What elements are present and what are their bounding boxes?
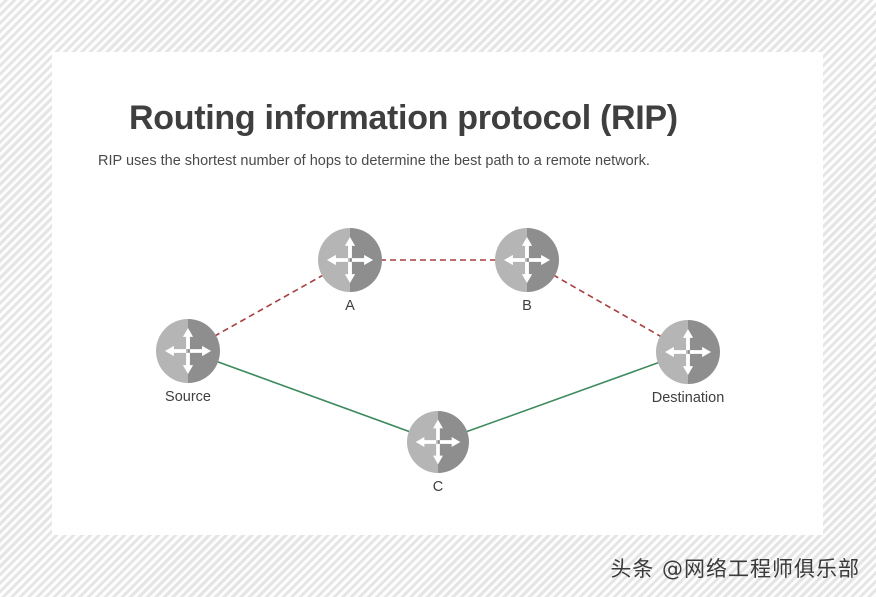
- page-title: Routing information protocol (RIP): [129, 100, 829, 137]
- edge-source-to-c: [216, 361, 411, 432]
- router-node-a[interactable]: A: [318, 228, 382, 292]
- edge-group-dashed-path: [214, 260, 662, 337]
- router-icon: [156, 319, 220, 383]
- router-label-c: C: [433, 479, 443, 495]
- page-subtitle: RIP uses the shortest number of hops to …: [98, 152, 818, 171]
- router-node-source[interactable]: Source: [156, 319, 220, 383]
- edge-c-to-destination: [465, 362, 659, 432]
- router-label-b: B: [522, 298, 532, 314]
- router-node-c[interactable]: C: [407, 411, 469, 473]
- router-icon: [656, 320, 720, 384]
- edge-b-to-destination: [553, 275, 662, 337]
- router-node-b[interactable]: B: [495, 228, 559, 292]
- router-label-destination: Destination: [652, 390, 725, 406]
- router-label-source: Source: [165, 389, 211, 405]
- router-node-destination[interactable]: Destination: [656, 320, 720, 384]
- edge-source-to-a: [214, 275, 324, 337]
- watermark: 头条 @网络工程师俱乐部: [610, 553, 860, 583]
- content-card: SourceABCDestination Routing information…: [52, 52, 823, 535]
- router-icon: [407, 411, 469, 473]
- router-label-a: A: [345, 298, 355, 314]
- router-icon: [495, 228, 559, 292]
- router-icon: [318, 228, 382, 292]
